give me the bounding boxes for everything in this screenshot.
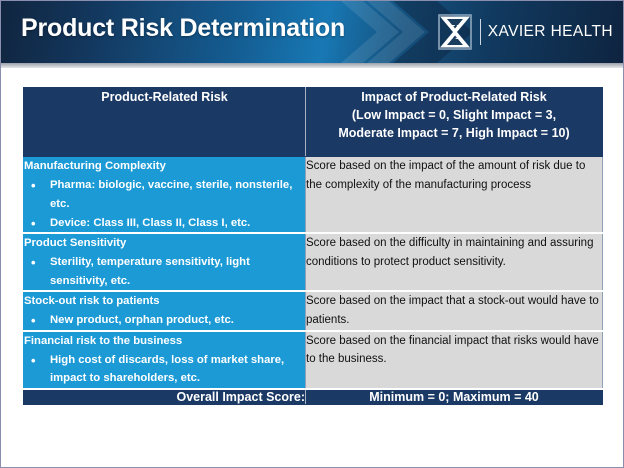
risk-cell-product-sensitivity: Product Sensitivity Sterility, temperatu… [24,233,306,291]
impact-header-line-2: (Low Impact = 0, Slight Impact = 3, [306,106,602,124]
table-footer-row: Overall Impact Score: Minimum = 0; Maxim… [24,389,603,405]
slide-header: Product Risk Determination X XAVIER HEAL… [1,1,623,63]
table-row: Product Sensitivity Sterility, temperatu… [24,233,603,291]
risk-cell-stock-out-risk: Stock-out risk to patients New product, … [24,291,306,331]
table-row: Manufacturing Complexity Pharma: biologi… [24,157,603,234]
logo-divider [480,19,481,45]
product-risk-table: Product-Related Risk Impact of Product-R… [23,87,603,405]
list-item: Pharma: biologic, vaccine, sterile, nons… [24,176,305,213]
risk-title: Product Sensitivity [24,234,305,252]
slide: Product Risk Determination X XAVIER HEAL… [0,0,624,468]
risk-bullet-list: New product, orphan product, etc. [24,311,305,329]
header-underline [1,63,623,68]
risk-title: Financial risk to the business [24,332,305,350]
table-row: Financial risk to the business High cost… [24,331,603,389]
impact-cell-manufacturing-complexity: Score based on the impact of the amount … [306,157,603,234]
overall-impact-score-label: Overall Impact Score: [24,389,306,405]
risk-title: Manufacturing Complexity [24,157,305,175]
impact-cell-product-sensitivity: Score based on the difficulty in maintai… [306,233,603,291]
impact-cell-stock-out-risk: Score based on the impact that a stock-o… [306,291,603,331]
risk-bullet-list: High cost of discards, loss of market sh… [24,351,305,388]
risk-bullet-list: Pharma: biologic, vaccine, sterile, nons… [24,176,305,232]
impact-header-line-3: Moderate Impact = 7, High Impact = 10) [306,124,602,142]
xavier-x-logo: X [435,12,475,52]
table-row: Stock-out risk to patients New product, … [24,291,603,331]
list-item: High cost of discards, loss of market sh… [24,351,305,388]
risk-cell-financial-risk: Financial risk to the business High cost… [24,331,306,389]
risk-bullet-list: Sterility, temperature sensitivity, ligh… [24,253,305,290]
brand-name: XAVIER HEALTH [488,23,613,41]
impact-cell-financial-risk: Score based on the financial impact that… [306,331,603,389]
list-item: Device: Class III, Class II, Class I, et… [24,214,305,232]
column-header-risk: Product-Related Risk [24,88,306,157]
impact-header-line-1: Impact of Product-Related Risk [306,88,602,106]
table-header-row: Product-Related Risk Impact of Product-R… [24,88,603,157]
page-title: Product Risk Determination [21,14,345,43]
list-item: New product, orphan product, etc. [24,311,305,329]
risk-title: Stock-out risk to patients [24,292,305,310]
overall-impact-score-value: Minimum = 0; Maximum = 40 [306,389,603,405]
brand-logo: X XAVIER HEALTH [435,12,613,52]
svg-text:X: X [447,20,462,44]
column-header-impact: Impact of Product-Related Risk (Low Impa… [306,88,603,157]
risk-cell-manufacturing-complexity: Manufacturing Complexity Pharma: biologi… [24,157,306,234]
list-item: Sterility, temperature sensitivity, ligh… [24,253,305,290]
